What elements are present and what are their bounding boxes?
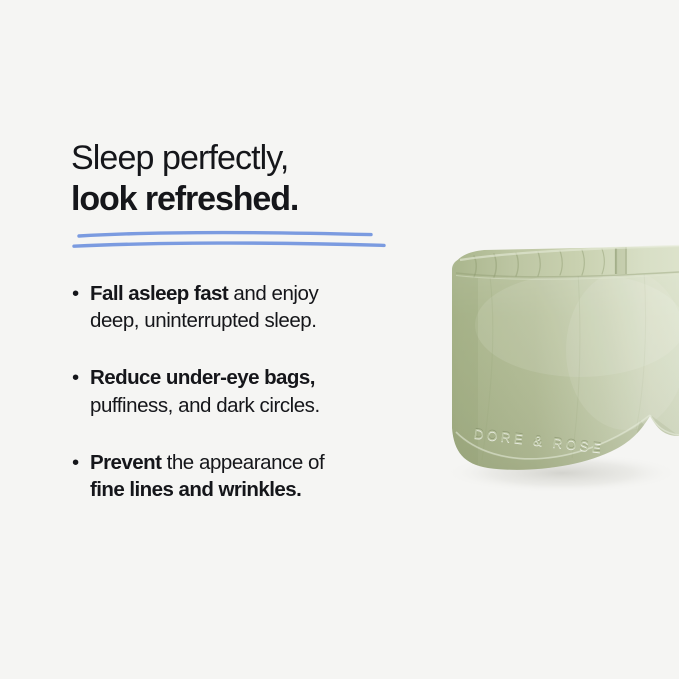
- benefit-item-2: • Reduce under-eye bags, puffiness, and …: [71, 364, 421, 419]
- benefit-2-line-2: puffiness, and dark circles.: [90, 392, 421, 419]
- benefit-3-line-2: fine lines and wrinkles.: [90, 476, 421, 503]
- benefit-3-rest: the appearance of: [161, 451, 324, 474]
- benefit-1-line-2: deep, uninterrupted sleep.: [90, 307, 421, 334]
- benefit-2-bold: Reduce under-eye bags,: [90, 366, 315, 389]
- underline-stroke-top: [79, 233, 371, 236]
- benefit-2-line-1: Reduce under-eye bags,: [90, 364, 421, 391]
- headline: Sleep perfectly, look refreshed.: [71, 138, 421, 221]
- mask-padded-top-band: [454, 246, 679, 279]
- benefit-3-line-2-bold: fine lines and wrinkles.: [90, 478, 301, 501]
- headline-underline: [73, 228, 385, 254]
- benefit-1-bold: Fall asleep fast: [90, 282, 228, 305]
- benefit-3-bold: Prevent: [90, 451, 161, 474]
- underline-stroke-bottom: [74, 243, 384, 246]
- benefit-1-line-1: Fall asleep fast and enjoy: [90, 280, 421, 307]
- benefit-1-rest: and enjoy: [228, 282, 318, 305]
- bullet-marker: •: [72, 364, 79, 391]
- product-image-sleep-mask: DORE & ROSE: [430, 230, 679, 520]
- benefit-3-line-1: Prevent the appearance of: [90, 449, 421, 476]
- headline-line-2: look refreshed.: [71, 179, 421, 220]
- strap-seam: [616, 247, 626, 274]
- headline-line-1: Sleep perfectly,: [71, 138, 421, 179]
- benefits-list: • Fall asleep fast and enjoy deep, unint…: [71, 280, 421, 504]
- benefit-item-1: • Fall asleep fast and enjoy deep, unint…: [71, 280, 421, 335]
- bullet-marker: •: [72, 280, 79, 307]
- copy-block: Sleep perfectly, look refreshed. • Fall …: [71, 138, 421, 503]
- product-banner: Sleep perfectly, look refreshed. • Fall …: [0, 0, 679, 679]
- benefit-item-3: • Prevent the appearance of fine lines a…: [71, 449, 421, 504]
- bullet-marker: •: [72, 449, 79, 476]
